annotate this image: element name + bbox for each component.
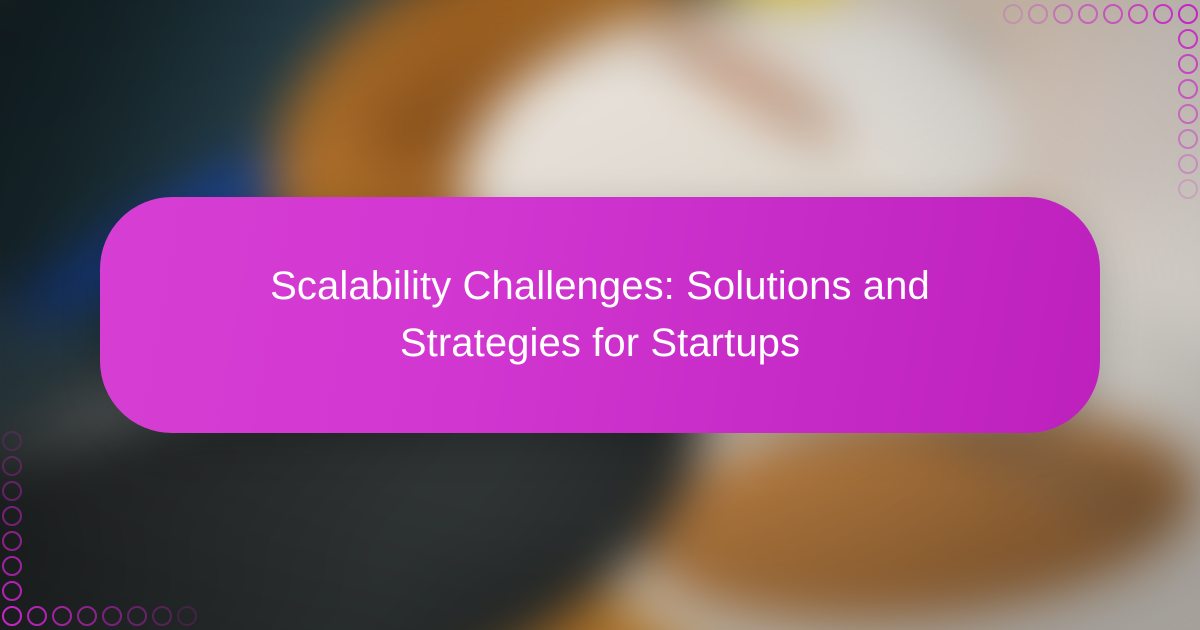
social-card-canvas: Scalability Challenges: Solutions and St… — [0, 0, 1200, 630]
title-card: Scalability Challenges: Solutions and St… — [100, 197, 1100, 433]
page-title-line-2: Strategies for Startups — [400, 321, 800, 365]
page-title-line-1: Scalability Challenges: Solutions and — [270, 264, 930, 308]
page-title: Scalability Challenges: Solutions and St… — [270, 258, 930, 372]
